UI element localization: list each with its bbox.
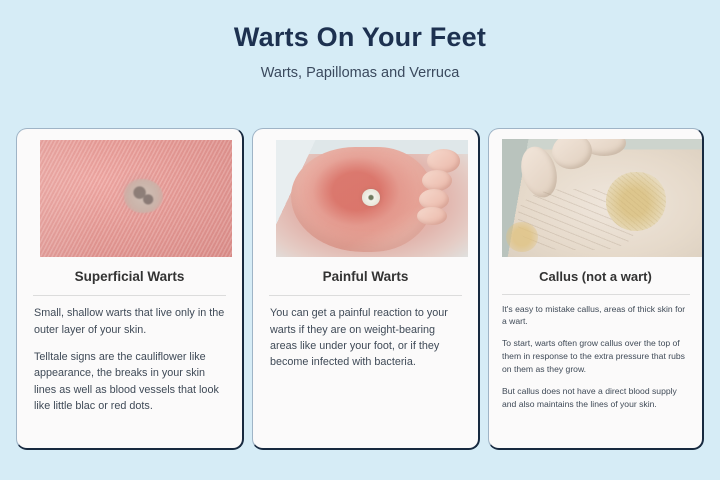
wart-spot	[362, 189, 379, 205]
toes-group	[410, 149, 464, 233]
slide-root: Warts On Your Feet Warts, Papillomas and…	[0, 0, 720, 480]
card-paragraph: Telltale signs are the cauliflower like …	[34, 349, 225, 415]
callus-edge	[506, 222, 538, 253]
superficial-wart-skin-closeup-photo	[40, 140, 232, 257]
card-body: Small, shallow warts that live only in t…	[17, 296, 242, 424]
card-paragraph: You can get a painful reaction to your w…	[270, 305, 461, 371]
card-body: It's easy to mistake callus, areas of th…	[489, 295, 702, 428]
card-heading: Painful Warts	[261, 269, 470, 285]
card-image-callus	[502, 139, 702, 257]
card-image-painful-warts	[276, 140, 468, 257]
card-painful-warts[interactable]: Painful Warts You can get a painful reac…	[252, 128, 480, 450]
page-title: Warts On Your Feet	[0, 22, 720, 53]
card-heading: Superficial Warts	[25, 269, 234, 285]
card-heading: Callus (not a wart)	[497, 269, 694, 285]
card-body: You can get a painful reaction to your w…	[253, 296, 478, 381]
card-paragraph: Small, shallow warts that live only in t…	[34, 305, 225, 338]
painful-wart-on-sole-of-foot-photo	[276, 140, 468, 257]
toe-shape	[550, 139, 595, 172]
card-paragraph: To start, warts often grow callus over t…	[502, 337, 690, 376]
card-image-superficial-warts	[40, 140, 232, 257]
callus-on-foot-photo	[502, 139, 702, 257]
page-subtitle: Warts, Papillomas and Verruca	[0, 65, 720, 81]
card-paragraph: It's easy to mistake callus, areas of th…	[502, 303, 690, 329]
cards-row: Superficial Warts Small, shallow warts t…	[16, 128, 704, 450]
header: Warts On Your Feet Warts, Papillomas and…	[0, 0, 720, 81]
card-superficial-warts[interactable]: Superficial Warts Small, shallow warts t…	[16, 128, 244, 450]
card-paragraph: But callus does not have a direct blood …	[502, 385, 690, 411]
callus-spot	[606, 172, 666, 231]
card-callus[interactable]: Callus (not a wart) It's easy to mistake…	[488, 128, 704, 450]
